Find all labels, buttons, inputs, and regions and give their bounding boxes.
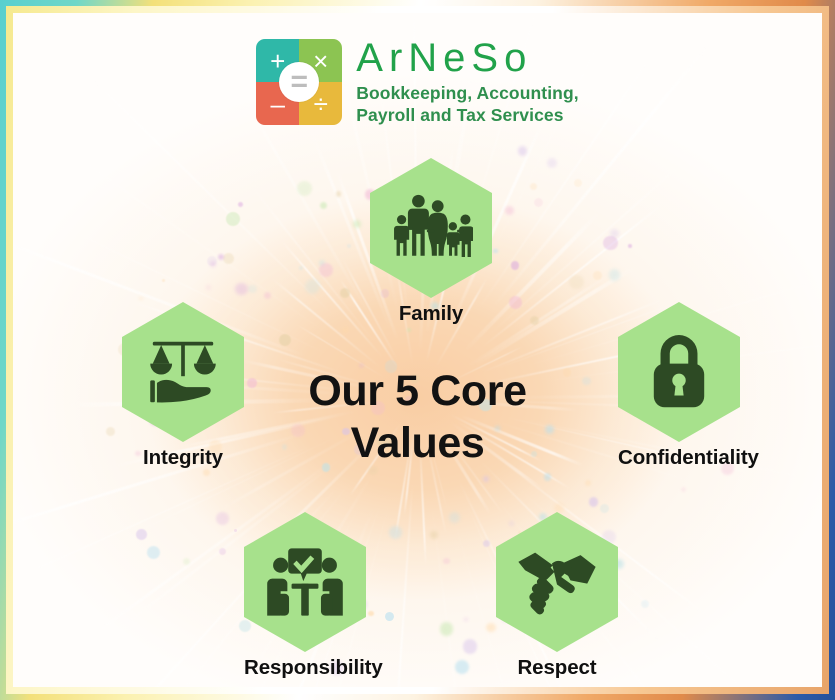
value-label-responsibility: Responsibility xyxy=(244,656,366,680)
brand-name: ArNeSo xyxy=(356,37,578,79)
family-silhouette-icon xyxy=(389,186,473,270)
value-label-confidentiality: Confidentiality xyxy=(618,446,740,470)
logo-mark-icon: + × – ÷ = xyxy=(256,39,342,125)
value-label-family: Family xyxy=(370,302,492,326)
brand-tagline-line-1: Bookkeeping, Accounting, xyxy=(356,82,578,104)
value-hexagon-respect xyxy=(496,512,618,652)
value-hexagon-responsibility xyxy=(244,512,366,652)
value-label-integrity: Integrity xyxy=(122,446,244,470)
brand-tagline-line-2: Payroll and Tax Services xyxy=(356,104,578,126)
value-label-respect: Respect xyxy=(496,656,618,680)
brand-logo: + × – ÷ = ArNeSo xyxy=(13,37,822,127)
value-item-integrity[interactable]: Integrity xyxy=(122,302,244,470)
value-hexagon-family xyxy=(370,158,492,298)
poster-inner-frame: + × – ÷ = ArNeSo xyxy=(6,6,829,694)
value-item-respect[interactable]: Respect xyxy=(496,512,618,680)
handshake-icon xyxy=(515,540,599,624)
scales-on-hand-icon xyxy=(141,330,225,414)
poster-canvas: + × – ÷ = ArNeSo xyxy=(0,0,835,700)
page-title-line-2: Values xyxy=(208,417,628,469)
poster-content-area: + × – ÷ = ArNeSo xyxy=(13,13,822,687)
brand-wordmark: ArNeSo Bookkeeping, Accounting, Payroll … xyxy=(356,37,578,127)
brand-tagline: Bookkeeping, Accounting, Payroll and Tax… xyxy=(356,82,578,127)
team-checkmark-icon xyxy=(263,540,347,624)
page-title: Our 5 Core Values xyxy=(208,365,628,470)
page-title-line-1: Our 5 Core xyxy=(208,365,628,417)
value-hexagon-confidentiality xyxy=(618,302,740,442)
equals-icon: = xyxy=(279,62,319,102)
value-item-confidentiality[interactable]: Confidentiality xyxy=(618,302,740,470)
equals-icon-glyph: = xyxy=(291,67,309,97)
value-item-family[interactable]: Family xyxy=(370,158,492,326)
padlock-icon xyxy=(637,330,721,414)
value-item-responsibility[interactable]: Responsibility xyxy=(244,512,366,680)
value-hexagon-integrity xyxy=(122,302,244,442)
